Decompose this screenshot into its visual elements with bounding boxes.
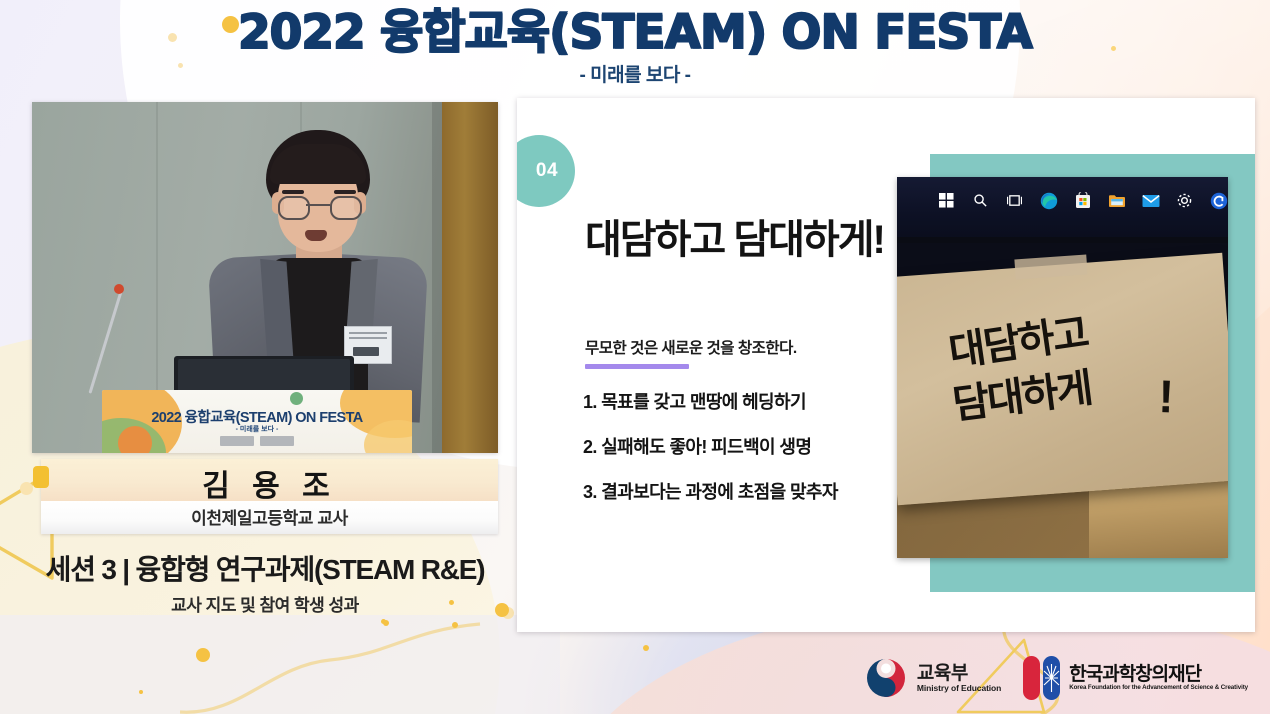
slide-section-number: 04 xyxy=(520,160,558,182)
nameplate-yellow-tab xyxy=(33,466,49,488)
slide-heading: 대담하고 담대하게! xyxy=(585,207,884,265)
session-info: 세션 3 | 융합형 연구과제(STEAM R&E) 교사 지도 및 참여 학생… xyxy=(0,548,530,616)
wood-panel xyxy=(442,102,498,453)
kofac-logo: 한국과학창의재단 Korea Foundation for the Advanc… xyxy=(1023,656,1248,700)
podium-banner: 2022 융합교육(STEAM) ON FESTA - 미래를 보다 - xyxy=(102,390,412,453)
decor-dot xyxy=(643,645,649,651)
moe-logo-text: 교육부 Ministry of Education xyxy=(917,664,1001,693)
photo-kraft-paper-sign: 대담하고 담대하게 ! xyxy=(897,253,1228,505)
background-gray-band xyxy=(0,615,560,714)
session-subtitle: 교사 지도 및 참여 학생 성과 xyxy=(0,591,530,616)
decor-dot xyxy=(20,482,33,495)
mouth xyxy=(305,230,327,241)
page-title: 2022 융합교육(STEAM) ON FESTA xyxy=(238,8,1032,57)
list-item: 3. 결과보다는 과정에 초점을 맞추자 xyxy=(583,478,838,504)
windows-start-icon xyxy=(937,191,956,210)
cortana-icon xyxy=(1209,191,1228,210)
kofac-logo-text: 한국과학창의재단 Korea Foundation for the Advanc… xyxy=(1069,665,1248,691)
moe-logo-en: Ministry of Education xyxy=(917,684,1001,693)
slide-photo: 대담하고 담대하게 ! xyxy=(897,177,1228,558)
decor-dot xyxy=(139,690,143,694)
name-badge-text xyxy=(353,347,379,356)
slide-lead-text: 무모한 것은 새로운 것을 창조한다. xyxy=(585,336,797,358)
speaker-video[interactable]: 2022 융합교육(STEAM) ON FESTA - 미래를 보다 - xyxy=(32,102,498,453)
slide-bullet-list: 1. 목표를 갖고 맨땅에 헤딩하기 2. 실패해도 좋아! 피드백이 생명 3… xyxy=(583,388,838,523)
edge-browser-icon xyxy=(1039,191,1058,210)
eyebrow-left xyxy=(282,190,304,194)
microphone-head xyxy=(114,284,124,294)
list-item: 2. 실패해도 좋아! 피드백이 생명 xyxy=(583,433,838,459)
laptop-screen xyxy=(178,359,350,393)
handwriting-exclamation: ! xyxy=(1158,369,1175,423)
list-item: 1. 목표를 갖고 맨땅에 헤딩하기 xyxy=(583,388,838,414)
glasses-bridge xyxy=(306,204,330,206)
presentation-stage: 2022 융합교육(STEAM) ON FESTA - 미래를 보다 - xyxy=(0,0,1270,714)
slide-section-badge: 04 xyxy=(517,135,575,207)
kofac-red-bar xyxy=(1023,656,1040,700)
footer-logos: 교육부 Ministry of Education xyxy=(864,656,1248,700)
presentation-slide[interactable]: 04 대담하고 담대하게! 무모한 것은 새로운 것을 창조한다. 1. 목표를… xyxy=(517,98,1255,632)
mail-icon xyxy=(1141,191,1160,210)
speaker-name: 김 용 조 xyxy=(41,461,498,505)
task-view-icon xyxy=(1005,191,1024,210)
moe-logo-ko: 교육부 xyxy=(917,664,1001,684)
search-icon xyxy=(971,191,990,210)
session-title: 세션 3 | 융합형 연구과제(STEAM R&E) xyxy=(0,548,530,588)
photo-monitor-screen xyxy=(897,177,1228,243)
glasses-right xyxy=(330,196,362,220)
moe-logo: 교육부 Ministry of Education xyxy=(864,656,1001,700)
podium-blob xyxy=(290,392,303,405)
wall-edge xyxy=(432,102,442,453)
speaker-role: 이천제일고등학교 교사 xyxy=(41,504,498,529)
header: 2022 융합교육(STEAM) ON FESTA - 미래를 보다 - xyxy=(0,0,1270,98)
hair-front xyxy=(270,144,366,184)
kofac-blue-bar xyxy=(1043,656,1060,700)
podium-logo-moe xyxy=(220,436,254,446)
podium-banner-subtitle: - 미래를 보다 - xyxy=(102,424,412,434)
podium-logos xyxy=(102,436,412,446)
eyebrow-right xyxy=(334,190,356,194)
kofac-logo-ko: 한국과학창의재단 xyxy=(1069,665,1248,685)
taegeuk-icon xyxy=(864,656,908,700)
kofac-icon xyxy=(1023,656,1060,700)
file-explorer-icon xyxy=(1107,191,1126,210)
settings-gear-icon xyxy=(1175,191,1194,210)
glasses-left xyxy=(278,196,310,220)
microsoft-store-icon xyxy=(1073,191,1092,210)
windows-taskbar xyxy=(937,191,1228,210)
speaker-nameplate: 김 용 조 이천제일고등학교 교사 xyxy=(41,459,498,534)
kofac-logo-en: Korea Foundation for the Advancement of … xyxy=(1069,685,1248,692)
podium-logo-kofac xyxy=(260,436,294,446)
decor-dot xyxy=(196,648,210,662)
page-subtitle: - 미래를 보다 - xyxy=(580,60,691,87)
decor-dot xyxy=(383,620,389,626)
decor-dot xyxy=(452,622,458,628)
slide-underline xyxy=(585,364,689,369)
